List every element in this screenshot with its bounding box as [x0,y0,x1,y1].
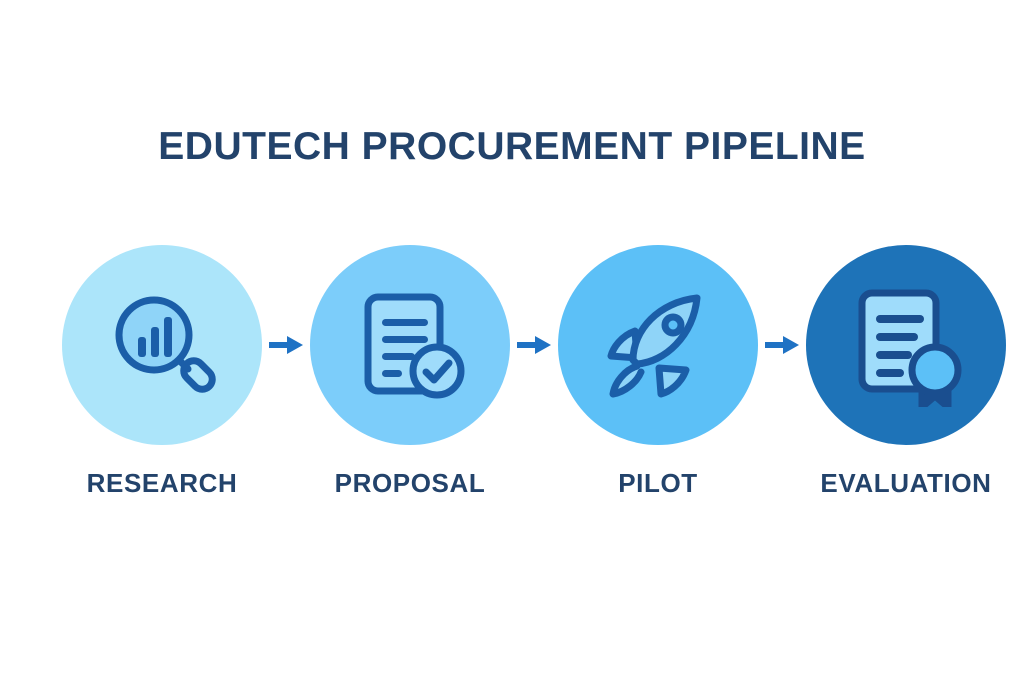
arrow-pilot-to-evaluation [765,332,799,358]
stage-label-research: RESEARCH [62,468,262,499]
stage-label-evaluation: EVALUATION [806,468,1006,499]
pipeline-stage-row [62,245,962,445]
arrow-right-icon [517,334,551,356]
arrow-proposal-to-pilot [517,332,551,358]
infographic-canvas: EDUTECH PROCUREMENT PIPELINE [0,0,1024,683]
magnifier-bar-chart-icon [102,285,222,405]
certificate-award-icon [846,283,966,407]
stage-pilot[interactable] [558,245,758,445]
arrow-research-to-proposal [269,332,303,358]
stage-circle-evaluation[interactable] [806,245,1006,445]
arrow-right-icon [765,334,799,356]
stage-evaluation[interactable] [806,245,1006,445]
stage-label-proposal: PROPOSAL [310,468,510,499]
page-title: EDUTECH PROCUREMENT PIPELINE [0,125,1024,169]
stage-proposal[interactable] [310,245,510,445]
pipeline-label-row: RESEARCH PROPOSAL PILOT EVALUATION [62,468,962,508]
document-check-icon [350,285,470,405]
stage-circle-proposal[interactable] [310,245,510,445]
stage-circle-pilot[interactable] [558,245,758,445]
rocket-icon [597,284,719,406]
stage-label-pilot: PILOT [558,468,758,499]
arrow-right-icon [269,334,303,356]
stage-circle-research[interactable] [62,245,262,445]
stage-research[interactable] [62,245,262,445]
